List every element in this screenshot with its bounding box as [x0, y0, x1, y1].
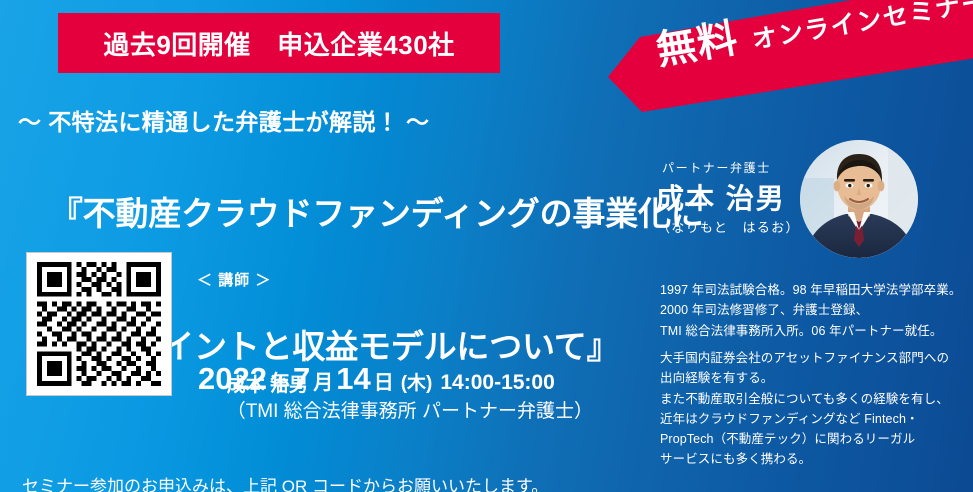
lecturer-affiliation: （TMI 総合法律事務所 パートナー弁護士）	[227, 401, 593, 422]
achievement-badge-text: 過去9回開催 申込企業430社	[103, 25, 454, 62]
event-year-unit: 年	[267, 366, 293, 395]
event-time: 14:00-15:00	[432, 371, 554, 395]
qr-code[interactable]	[26, 252, 172, 396]
headline-subtitle: ～ 不特法に精通した弁護士が解説！ ～	[18, 103, 429, 137]
free-label: 無料	[610, 6, 742, 84]
speaker-kana: （なりもと はるお）	[657, 217, 800, 236]
speaker-name: 成本 治男	[656, 177, 786, 217]
page-title-line1: 『不動産クラウドファンディングの事業化に	[50, 195, 704, 232]
lecturer-heading: ＜ 講師 ＞	[197, 269, 271, 290]
online-seminar-label: オンラインセミナー	[735, 0, 973, 59]
speaker-bio-experience: 大手国内証券会社のアセットファイナンス部門への 出向経験を有する。 また不動産取…	[660, 348, 949, 470]
speaker-role: パートナー弁護士	[662, 159, 771, 176]
footnotes: セミナー参加のお申込みは、上記 QR コードからお願いいたします。 ※本セミナー…	[22, 422, 548, 492]
speaker-portrait-image	[800, 140, 918, 258]
avatar	[800, 140, 918, 258]
event-day: 14	[336, 361, 370, 397]
event-weekday: (木)	[397, 368, 433, 395]
qr-code-image	[37, 262, 161, 386]
free-ribbon-label-group: 無料 オンラインセミナー	[610, 0, 973, 115]
event-year: 2022	[198, 361, 267, 397]
event-datetime: 2022 年 7 月 14 日 (木) 14:00-15:00	[198, 361, 555, 397]
event-day-unit: 日	[371, 366, 397, 395]
footnote-apply: セミナー参加のお申込みは、上記 QR コードからお願いいたします。	[22, 474, 548, 492]
event-month-unit: 月	[310, 366, 336, 395]
achievement-badge: 過去9回開催 申込企業430社	[58, 13, 500, 73]
speaker-bio-career: 1997 年司法試験合格。98 年早稲田大学法学部卒業。 2000 年司法修習修…	[660, 280, 961, 341]
seminar-poster: 過去9回開催 申込企業430社 無料 オンラインセミナー ～ 不特法に精通した弁…	[0, 0, 973, 492]
event-month: 7	[293, 361, 310, 397]
